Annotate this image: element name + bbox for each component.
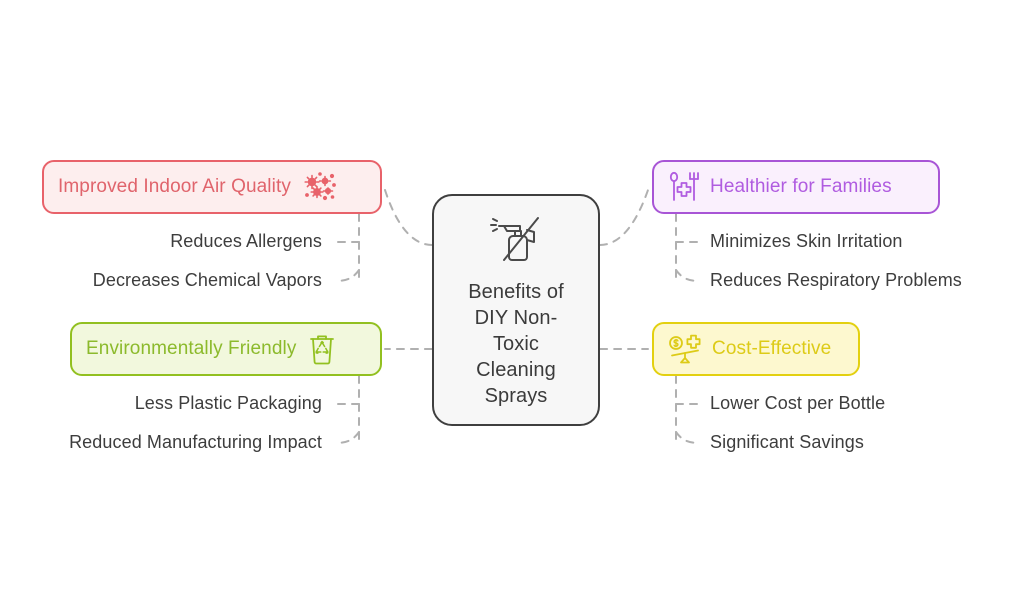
central-label-line: Benefits of bbox=[468, 279, 564, 305]
sub-item-minimizes-skin-irritation: Minimizes Skin Irritation bbox=[710, 231, 903, 252]
edge-center-air bbox=[385, 190, 432, 245]
central-node-label: Benefits of DIY Non- Toxic Cleaning Spra… bbox=[468, 279, 564, 409]
edge-air-child-1 bbox=[335, 270, 359, 281]
edge-center-health bbox=[600, 190, 648, 245]
sub-item-less-plastic-packaging: Less Plastic Packaging bbox=[0, 393, 322, 414]
branch-node-improved-indoor-air-quality[interactable]: Improved Indoor Air Quality bbox=[42, 160, 382, 214]
edge-health-child-1 bbox=[676, 270, 700, 281]
sub-item-reduced-manufacturing-impact: Reduced Manufacturing Impact bbox=[0, 432, 322, 453]
branch-node-healthier-for-families[interactable]: Healthier for Families bbox=[652, 160, 940, 214]
sub-item-lower-cost-per-bottle: Lower Cost per Bottle bbox=[710, 393, 885, 414]
central-label-line: Sprays bbox=[468, 383, 564, 409]
edge-env-child-1 bbox=[335, 432, 359, 443]
sub-item-significant-savings: Significant Savings bbox=[710, 432, 864, 453]
germs-cluster-icon bbox=[303, 171, 337, 203]
branch-label: Environmentally Friendly bbox=[86, 338, 296, 360]
sub-item-reduces-respiratory-problems: Reduces Respiratory Problems bbox=[710, 270, 962, 291]
branch-label: Improved Indoor Air Quality bbox=[58, 176, 291, 198]
central-label-line: DIY Non- bbox=[468, 305, 564, 331]
spoon-cross-fork-icon bbox=[668, 170, 700, 204]
branch-node-cost-effective[interactable]: Cost-Effective bbox=[652, 322, 860, 376]
sub-item-decreases-chemical-vapors: Decreases Chemical Vapors bbox=[0, 270, 322, 291]
branch-label: Cost-Effective bbox=[712, 338, 831, 360]
spray-bottle-prohibited-icon bbox=[485, 212, 547, 271]
sub-item-reduces-allergens: Reduces Allergens bbox=[0, 231, 322, 252]
branch-label: Healthier for Families bbox=[710, 176, 892, 198]
edge-cost-child-1 bbox=[676, 432, 700, 443]
money-health-balance-icon bbox=[668, 333, 702, 365]
branch-node-environmentally-friendly[interactable]: Environmentally Friendly bbox=[70, 322, 382, 376]
recycle-bin-icon bbox=[308, 333, 336, 365]
mindmap-canvas: Benefits of DIY Non- Toxic Cleaning Spra… bbox=[0, 0, 1024, 614]
central-label-line: Cleaning bbox=[468, 357, 564, 383]
central-label-line: Toxic bbox=[468, 331, 564, 357]
central-node[interactable]: Benefits of DIY Non- Toxic Cleaning Spra… bbox=[432, 194, 600, 426]
